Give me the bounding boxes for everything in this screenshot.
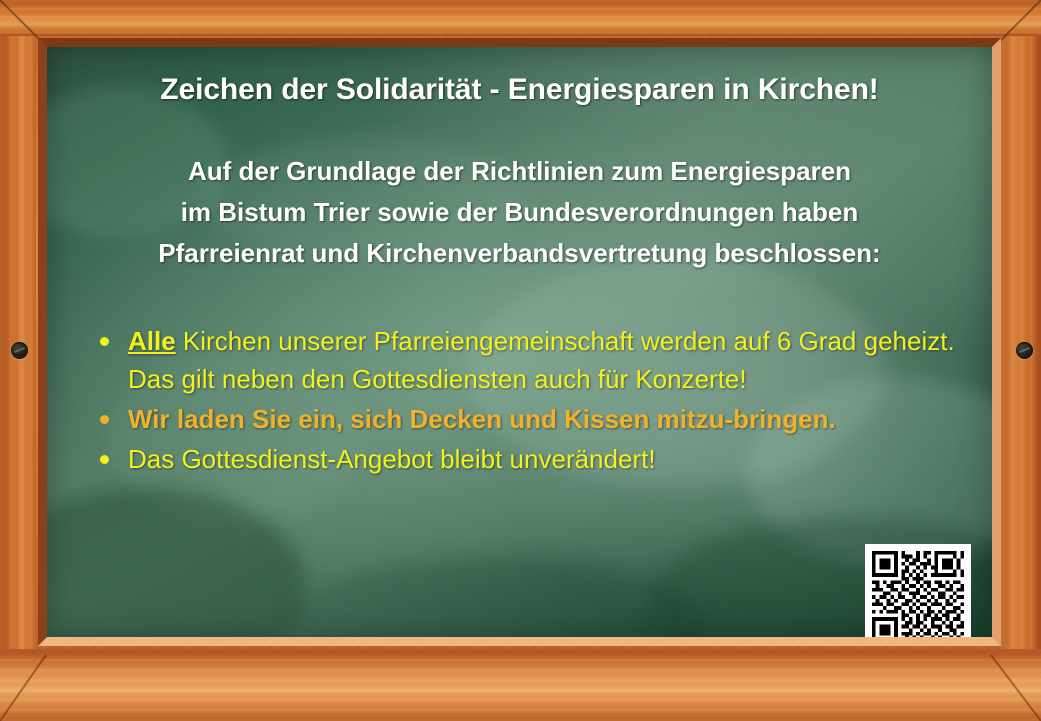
- subtitle-line: Auf der Grundlage der Richtlinien zum En…: [47, 151, 992, 192]
- chalkboard-poster: Zeichen der Solidarität - Energiesparen …: [0, 0, 1041, 721]
- subtitle-line: Pfarreienrat und Kirchenverbandsvertretu…: [47, 233, 992, 274]
- list-item-label: Wir laden Sie ein, sich Decken und Kisse…: [128, 404, 836, 434]
- list-item-label: Kirchen unserer Pfarreiengemeinschaft we…: [128, 326, 955, 394]
- bullet-dot-icon: [100, 455, 109, 464]
- list-item-label: Das Gottesdienst-Angebot bleibt unveränd…: [128, 444, 656, 474]
- screw-right-icon: [1016, 342, 1033, 359]
- frame-rail-right: [1001, 0, 1041, 721]
- frame-rail-left: [0, 0, 36, 721]
- list-item: Wir laden Sie ein, sich Decken und Kisse…: [92, 400, 972, 438]
- list-item: Alle Kirchen unserer Pfarreiengemeinscha…: [92, 322, 972, 398]
- decision-list: Alle Kirchen unserer Pfarreiengemeinscha…: [92, 322, 972, 480]
- qr-code[interactable]: [865, 544, 971, 637]
- bullet-dot-icon: [100, 415, 109, 424]
- screw-left-icon: [11, 342, 28, 359]
- chalkboard-slate: Zeichen der Solidarität - Energiesparen …: [47, 47, 992, 637]
- page-title: Zeichen der Solidarität - Energiesparen …: [47, 73, 992, 107]
- subtitle-line: im Bistum Trier sowie der Bundesverordnu…: [47, 192, 992, 233]
- qr-code-icon: [872, 551, 964, 637]
- bullet-dot-icon: [100, 337, 109, 346]
- subtitle-block: Auf der Grundlage der Richtlinien zum En…: [47, 151, 992, 274]
- list-item-emphasis: Alle: [128, 326, 176, 356]
- frame-rail-top: [0, 0, 1041, 36]
- frame-rail-bottom: [0, 649, 1041, 721]
- list-item: Das Gottesdienst-Angebot bleibt unveränd…: [92, 440, 972, 478]
